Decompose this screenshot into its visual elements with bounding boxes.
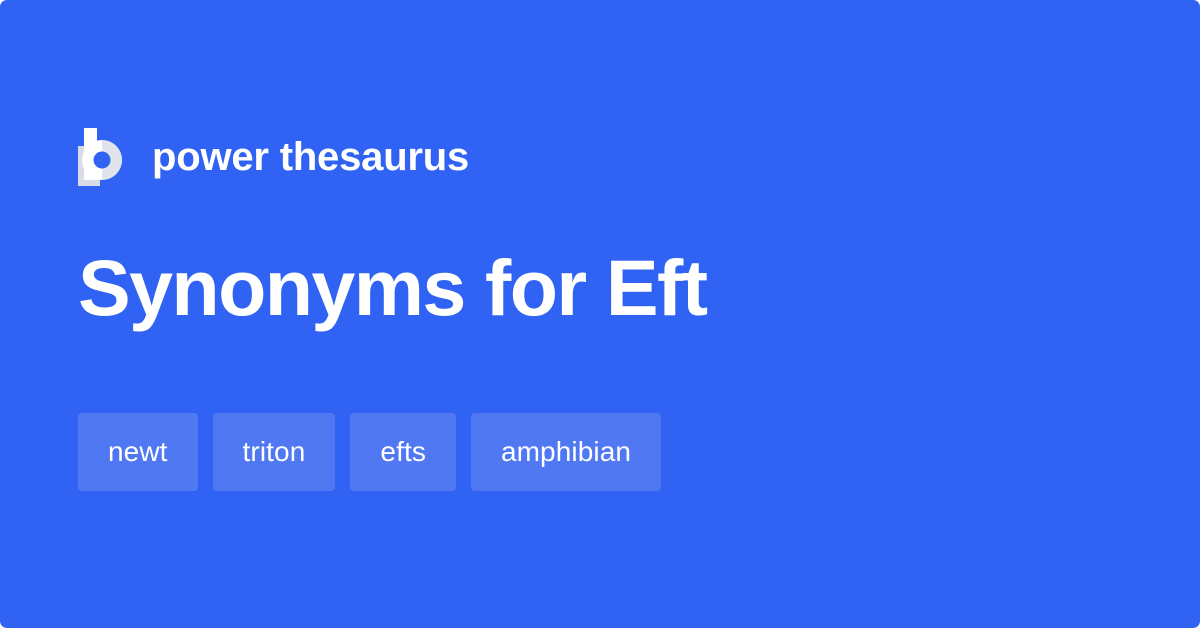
synonym-chip-row: newt triton efts amphibian xyxy=(78,413,661,491)
power-thesaurus-b-logo-icon xyxy=(78,128,124,186)
synonym-chip[interactable]: triton xyxy=(213,413,336,491)
brand-name: power thesaurus xyxy=(152,137,469,177)
synonym-chip[interactable]: newt xyxy=(78,413,198,491)
synonym-chip[interactable]: amphibian xyxy=(471,413,661,491)
og-share-card: power thesaurus Synonyms for Eft newt tr… xyxy=(0,0,1200,628)
page-title: Synonyms for Eft xyxy=(78,247,706,330)
synonym-chip[interactable]: efts xyxy=(350,413,456,491)
brand-lockup[interactable]: power thesaurus xyxy=(78,126,469,188)
